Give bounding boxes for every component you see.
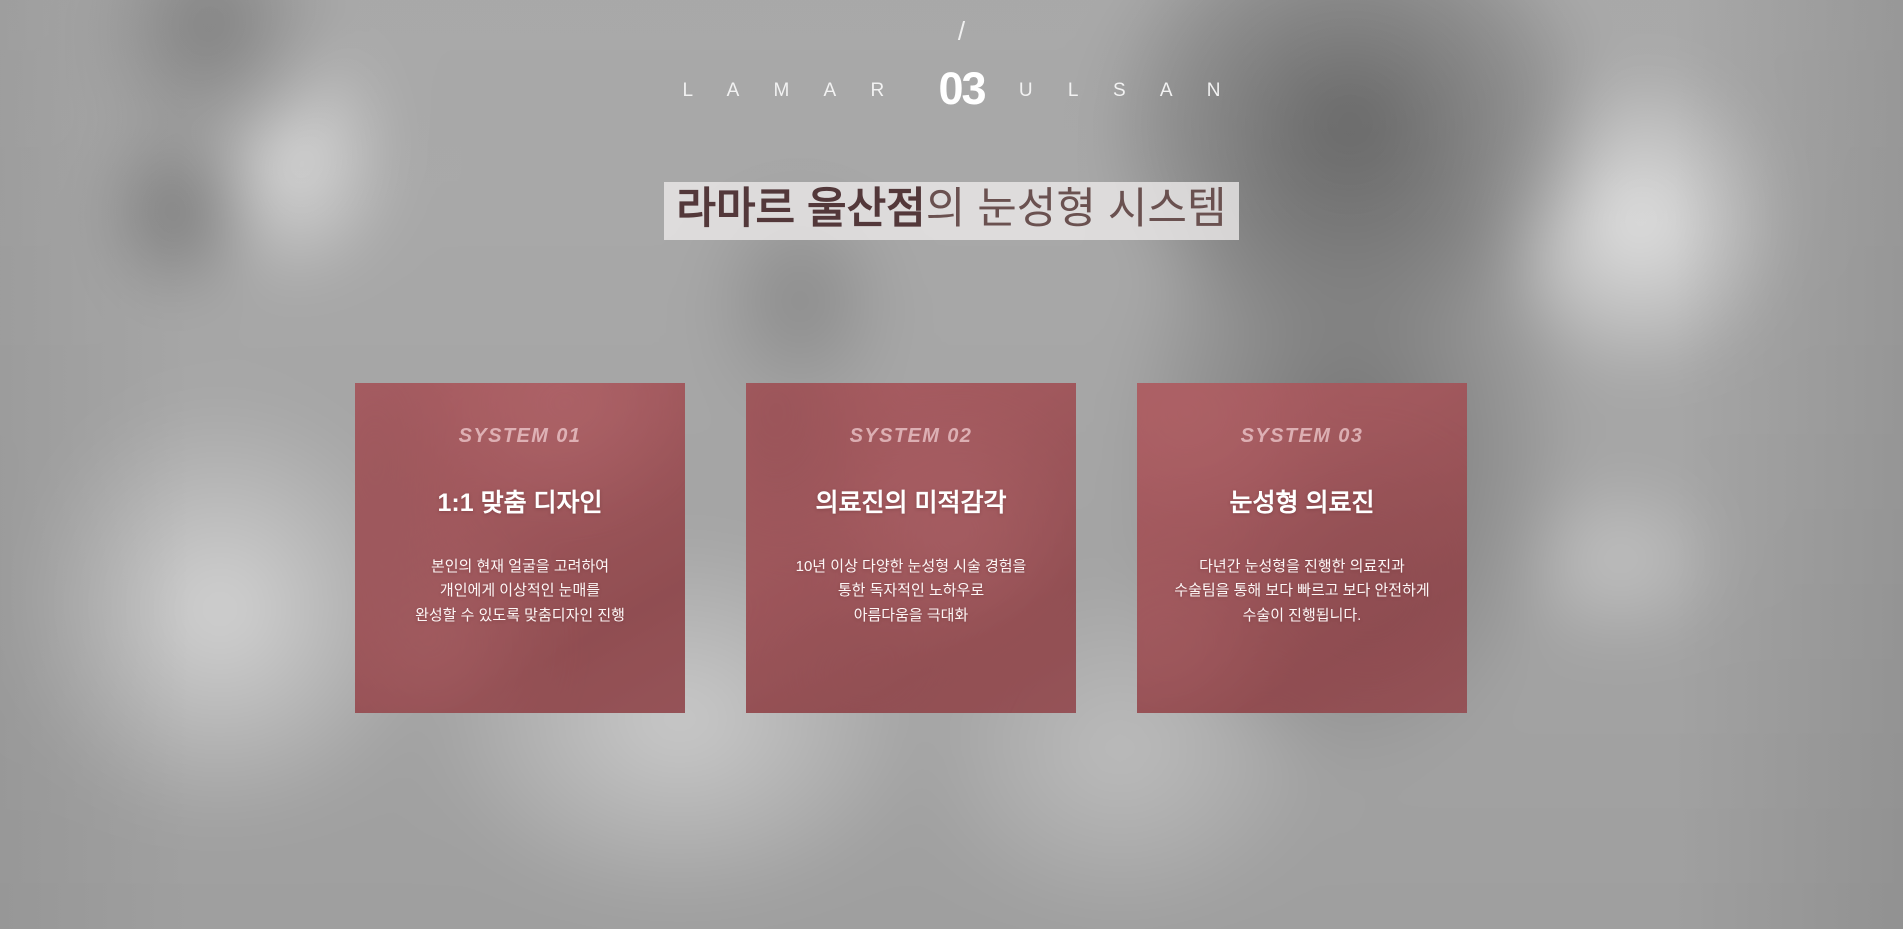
card-content: SYSTEM 02 의료진의 미적감각 10년 이상 다양한 눈성형 시술 경험…	[746, 383, 1076, 713]
card-title: 1:1 맞춤 디자인	[437, 483, 602, 519]
card-eyebrow-label: SYSTEM 01	[459, 425, 582, 448]
card-description: 다년간 눈성형을 진행한 의료진과 수술팀을 통해 보다 빠르고 보다 안전하게…	[1174, 555, 1429, 628]
brand-name-left: L A M A R	[683, 80, 900, 101]
card-content: SYSTEM 01 1:1 맞춤 디자인 본인의 현재 얼굴을 고려하여 개인에…	[355, 383, 685, 713]
card-description: 10년 이상 다양한 눈성형 시술 경험을 통한 독자적인 노하우로 아름다움을…	[796, 555, 1027, 628]
card-eyebrow-label: SYSTEM 03	[1241, 425, 1364, 448]
brand-eyebrow: L A M A R / 03 U L S A N	[0, 58, 1903, 103]
section-number-group: / 03	[923, 58, 984, 103]
page-title-wrap: 라마르 울산점의 눈성형 시스템	[0, 182, 1903, 240]
brand-name-right: U L S A N	[1019, 80, 1236, 101]
card-title: 눈성형 의료진	[1230, 483, 1375, 519]
slash-icon: /	[943, 16, 965, 47]
page-title-light: 의 눈성형 시스템	[926, 185, 1227, 233]
page-title: 라마르 울산점의 눈성형 시스템	[664, 182, 1238, 240]
page-title-strong: 라마르 울산점	[676, 185, 925, 233]
section-number: 03	[938, 63, 984, 114]
system-card[interactable]: SYSTEM 02 의료진의 미적감각 10년 이상 다양한 눈성형 시술 경험…	[746, 383, 1076, 713]
system-card-list: SYSTEM 01 1:1 맞춤 디자인 본인의 현재 얼굴을 고려하여 개인에…	[355, 383, 1467, 713]
card-title: 의료진의 미적감각	[816, 483, 1007, 519]
card-description: 본인의 현재 얼굴을 고려하여 개인에게 이상적인 눈매를 완성할 수 있도록 …	[415, 555, 625, 628]
system-card[interactable]: SYSTEM 01 1:1 맞춤 디자인 본인의 현재 얼굴을 고려하여 개인에…	[355, 383, 685, 713]
promo-page: L A M A R / 03 U L S A N 라마르 울산점의 눈성형 시스…	[0, 0, 1903, 929]
card-content: SYSTEM 03 눈성형 의료진 다년간 눈성형을 진행한 의료진과 수술팀을…	[1137, 383, 1467, 713]
system-card[interactable]: SYSTEM 03 눈성형 의료진 다년간 눈성형을 진행한 의료진과 수술팀을…	[1137, 383, 1467, 713]
card-eyebrow-label: SYSTEM 02	[850, 425, 973, 448]
